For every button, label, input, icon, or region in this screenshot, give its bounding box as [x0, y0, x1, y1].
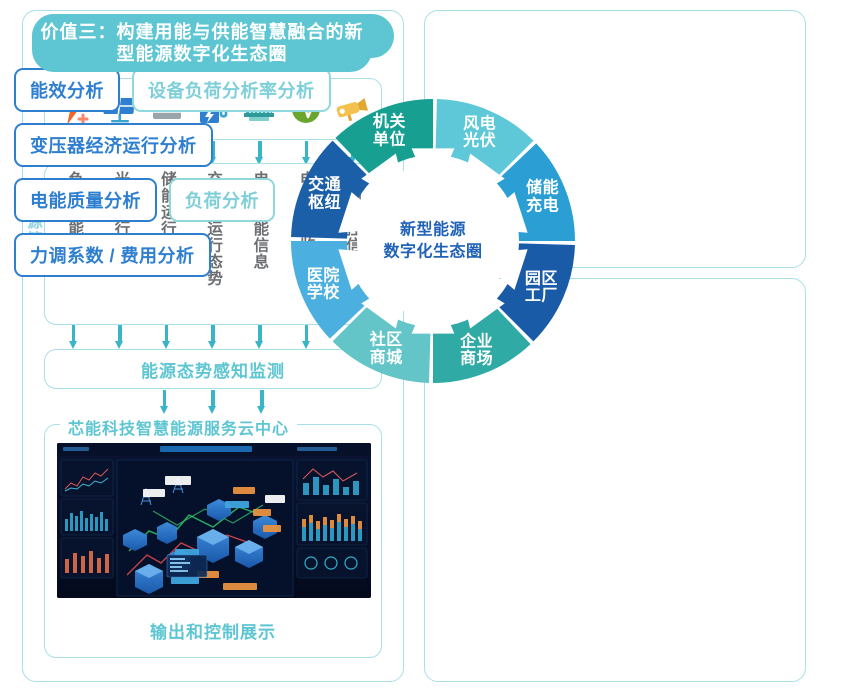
arrow-down-icon: [69, 325, 78, 349]
ecosystem-donut-chart: 新型能源 数字化生态圈 风电光伏储能充电园区工厂企业商场社区商城医院学校交通枢纽…: [283, 96, 583, 386]
gear-hub-core: [357, 165, 509, 317]
arrow-down-icon: [208, 390, 217, 414]
infographic-root: 价值一：园区能源可视可管可控: [0, 0, 866, 693]
energy-dashboard-image: [57, 443, 371, 598]
arrow-down-icon: [255, 325, 264, 349]
gear-hub-shape: [338, 148, 527, 333]
analysis-pill[interactable]: 变压器经济运行分析: [14, 123, 213, 167]
value-three-header: 价值三：构建用能与供能智慧融合的新型能源数字化生态圈: [32, 14, 372, 72]
arrow-down-icon: [208, 325, 217, 349]
cloud-center-legend: 芯能科技智慧能源服务云中心: [60, 415, 297, 439]
arrow-row-bottom: [140, 390, 286, 414]
analysis-pill[interactable]: 电能质量分析: [14, 178, 157, 222]
arrow-down-icon: [115, 325, 124, 349]
arrow-down-icon: [162, 325, 171, 349]
analysis-pill[interactable]: 负荷分析: [169, 178, 275, 222]
arrow-down-icon: [160, 390, 169, 414]
analysis-pill[interactable]: 力调系数 / 费用分析: [14, 233, 211, 277]
analysis-pill[interactable]: 能效分析: [14, 68, 120, 112]
situation-awareness-label: 能源态势感知监测: [141, 357, 285, 382]
output-control-caption: 输出和控制展示: [45, 618, 381, 643]
cloud-center-box: 输出和控制展示: [44, 424, 382, 658]
donut-svg: [283, 96, 583, 386]
arrow-down-icon: [257, 390, 266, 414]
